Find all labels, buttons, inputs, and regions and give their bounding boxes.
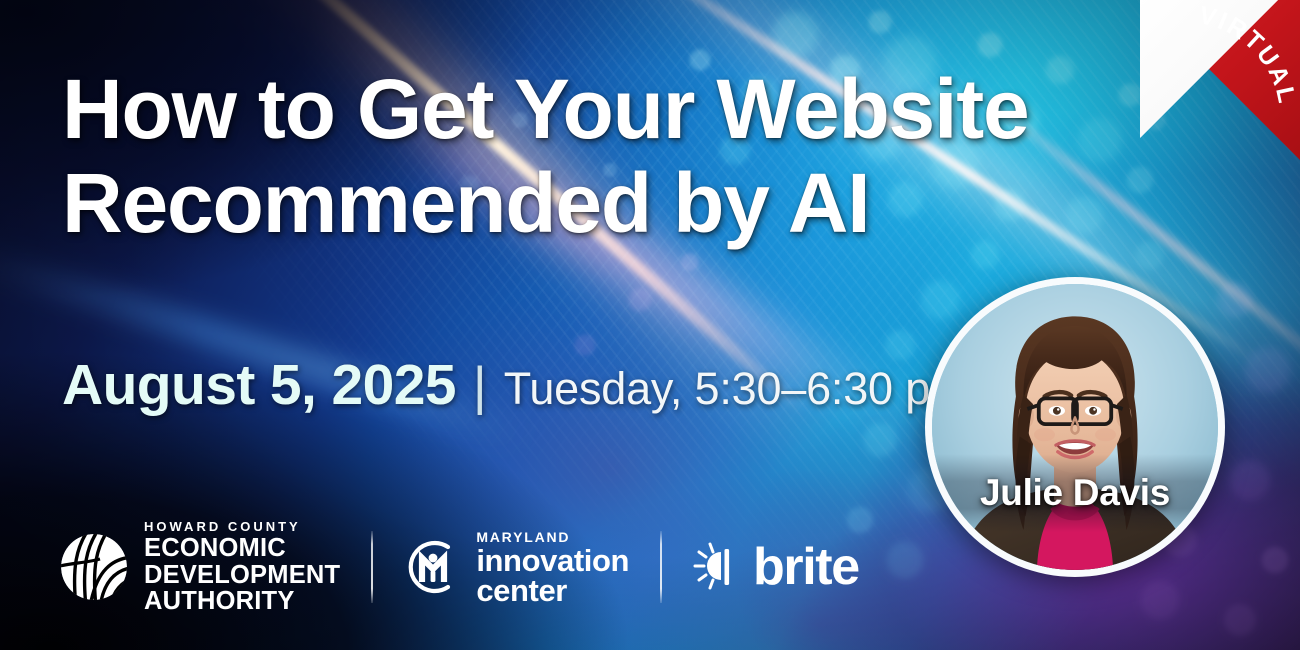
brite-wordmark: brite xyxy=(753,541,859,593)
logo-maryland-innovation-center: MARYLAND innovation center xyxy=(404,529,629,606)
mic-wordmark: MARYLAND innovation center xyxy=(476,529,629,606)
virtual-ribbon: VIRTUAL xyxy=(1140,0,1300,160)
event-title: How to Get Your Website Recommended by A… xyxy=(62,62,1112,250)
title-line-2: Recommended by AI xyxy=(62,156,1112,250)
event-date: August 5, 2025 xyxy=(62,352,456,418)
title-line-1: How to Get Your Website xyxy=(62,62,1112,156)
avatar: Julie Davis xyxy=(925,277,1225,577)
ribbon-label: VIRTUAL xyxy=(1140,0,1300,160)
eda-wordmark: HOWARD COUNTY ECONOMIC DEVELOPMENT AUTHO… xyxy=(144,519,340,615)
speaker-card: Julie Davis xyxy=(925,277,1225,577)
logo-howard-county-eda: HOWARD COUNTY ECONOMIC DEVELOPMENT AUTHO… xyxy=(60,519,340,615)
speaker-name-band: Julie Davis xyxy=(932,454,1218,532)
datetime-separator: | xyxy=(473,356,487,417)
eda-kicker: HOWARD COUNTY xyxy=(144,519,340,535)
logo-divider-2 xyxy=(660,531,662,603)
event-banner: How to Get Your Website Recommended by A… xyxy=(0,0,1300,650)
logo-brite: brite xyxy=(693,541,859,593)
logo-divider-1 xyxy=(371,531,373,603)
eda-line-2: DEVELOPMENT xyxy=(144,562,340,589)
ribbon-text: VIRTUAL xyxy=(1196,1,1300,107)
speaker-name: Julie Davis xyxy=(980,472,1170,514)
mic-monogram-icon xyxy=(404,538,462,596)
globe-stripes-icon xyxy=(60,533,128,601)
mic-line-1: innovation xyxy=(476,546,629,576)
event-datetime: August 5, 2025 | Tuesday, 5:30–6:30 p.m. xyxy=(62,352,992,418)
sponsor-logo-bar: HOWARD COUNTY ECONOMIC DEVELOPMENT AUTHO… xyxy=(60,526,859,608)
mic-line-2: center xyxy=(476,576,629,606)
event-time: Tuesday, 5:30–6:30 p.m. xyxy=(504,363,992,415)
eda-line-3: AUTHORITY xyxy=(144,588,340,615)
eda-line-1: ECONOMIC xyxy=(144,535,340,562)
brite-bulb-icon xyxy=(693,541,743,593)
